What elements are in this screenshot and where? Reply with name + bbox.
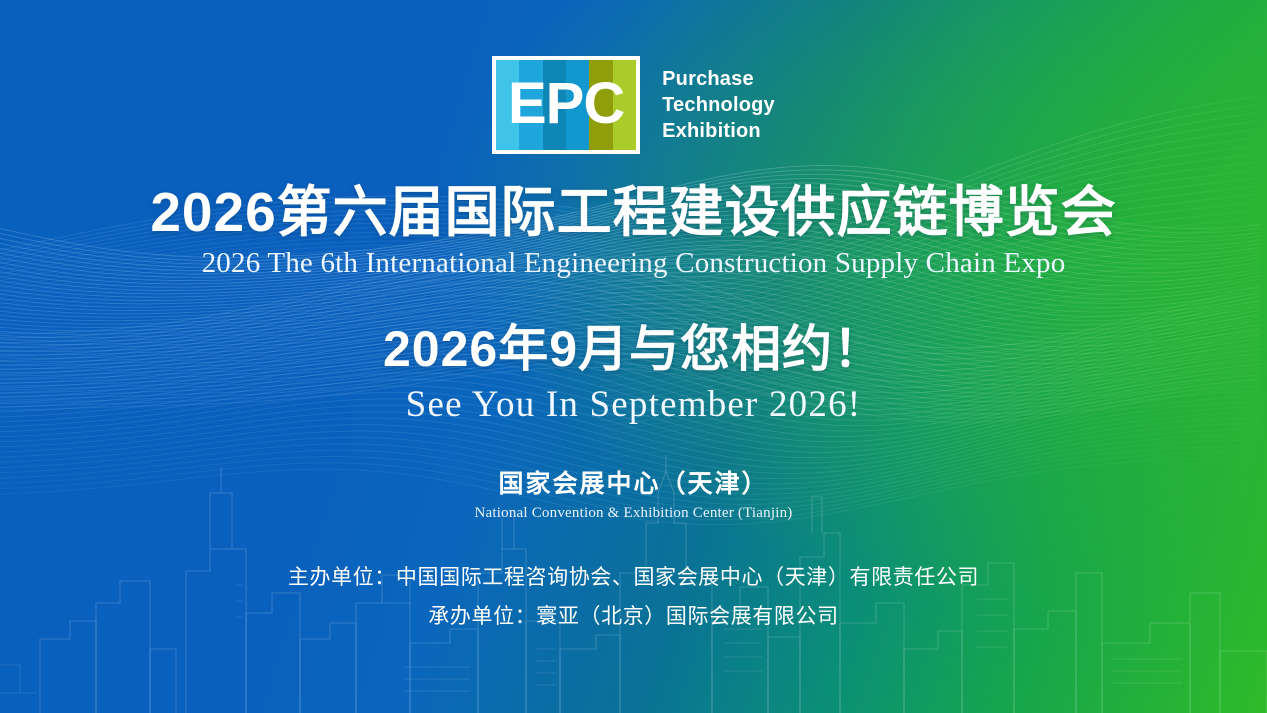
event-date-cn: 2026年9月与您相约！: [0, 322, 1267, 377]
epc-logo: EPC Purchase Technology Exhibition: [492, 56, 775, 154]
logo-word-exhibition: Exhibition: [662, 118, 775, 144]
organizing-organisation-line: 承办单位：寰亚（北京）国际会展有限公司: [0, 604, 1267, 629]
host-organisation-line: 主办单位：中国国际工程咨询协会、国家会展中心（天津）有限责任公司: [0, 565, 1267, 590]
logo-word-technology: Technology: [662, 92, 775, 118]
epc-logo-words: Purchase Technology Exhibition: [662, 66, 775, 144]
event-venue: 国家会展中心（天津） National Convention & Exhibit…: [0, 469, 1267, 522]
event-organisers: 主办单位：中国国际工程咨询协会、国家会展中心（天津）有限责任公司 承办单位：寰亚…: [0, 565, 1267, 628]
event-date-en: See You In September 2026!: [0, 385, 1267, 426]
event-title-cn: 2026第六届国际工程建设供应链博览会: [0, 184, 1267, 242]
event-title: 2026第六届国际工程建设供应链博览会 2026 The 6th Interna…: [0, 184, 1267, 280]
event-venue-en: National Convention & Exhibition Center …: [0, 505, 1267, 522]
event-venue-cn: 国家会展中心（天津）: [0, 469, 1267, 499]
epc-logo-mark: EPC: [492, 56, 640, 154]
event-date: 2026年9月与您相约！ See You In September 2026!: [0, 322, 1267, 426]
event-poster: EPC Purchase Technology Exhibition 2026第…: [0, 0, 1267, 713]
logo-word-purchase: Purchase: [662, 66, 775, 92]
epc-logo-text: EPC: [508, 75, 624, 133]
event-title-en: 2026 The 6th International Engineering C…: [0, 248, 1267, 280]
